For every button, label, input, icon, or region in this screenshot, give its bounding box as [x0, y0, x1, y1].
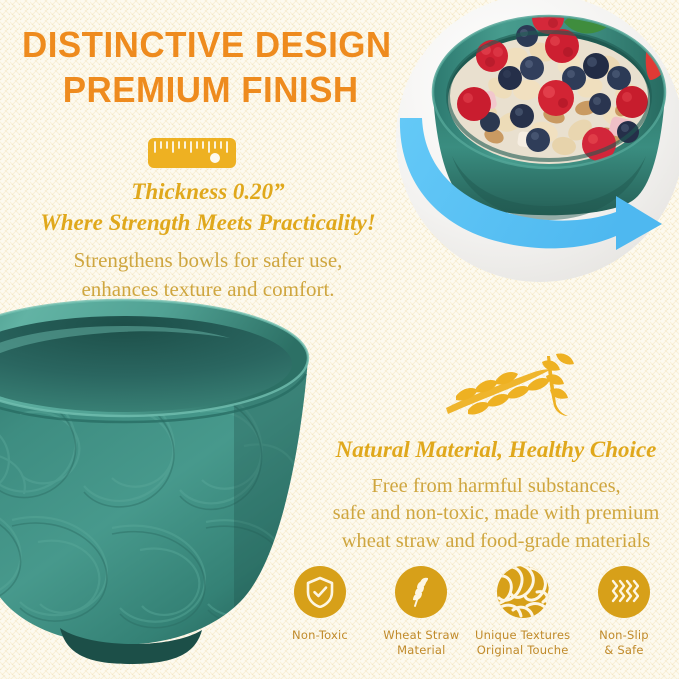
zigzag-lines-icon: [609, 578, 639, 606]
thickness-headline-2: Where Strength Meets Practicality!: [8, 207, 408, 238]
feature-label: Unique Textures Original Touche: [475, 628, 570, 659]
thickness-headline-1: Thickness 0.20”: [8, 176, 408, 207]
shield-check-icon: [305, 576, 335, 608]
swirl-texture-icon: [497, 566, 549, 618]
feature-label: Non-Toxic: [292, 628, 348, 643]
wheat-stalk-icon: [406, 576, 436, 608]
headline-line-2: PREMIUM FINISH: [22, 67, 429, 112]
curved-arrow-icon: [394, 112, 679, 272]
thickness-body-line-2: enhances texture and comfort.: [8, 275, 408, 305]
feature-icon-circle: [395, 566, 447, 618]
natural-material-body-line-1: Free from harmful substances,: [318, 473, 674, 501]
product-infographic: DISTINCTIVE DESIGN PREMIUM FINISH Thickn…: [0, 0, 679, 679]
wheat-stalks-icon: [444, 352, 580, 426]
thickness-body-line-1: Strengthens bowls for safer use,: [8, 246, 408, 276]
natural-material-body-line-2: safe and non-toxic, made with premium: [318, 500, 674, 528]
thickness-section: Thickness 0.20” Where Strength Meets Pra…: [8, 176, 408, 305]
natural-material-body-line-3: wheat straw and food-grade materials: [318, 528, 674, 556]
feature-icon-circle: [598, 566, 650, 618]
feature-icon-circle: [294, 566, 346, 618]
headline-line-1: DISTINCTIVE DESIGN: [22, 22, 429, 67]
feature-badge-row: Non-Toxic Wheat Straw Material: [272, 566, 672, 659]
natural-material-heading: Natural Material, Healthy Choice: [318, 436, 674, 464]
natural-material-section: Natural Material, Healthy Choice Free fr…: [318, 436, 674, 556]
feature-non-slip-safe: Non-Slip & Safe: [576, 566, 672, 659]
ruler-icon: [148, 138, 236, 168]
feature-non-toxic: Non-Toxic: [272, 566, 368, 659]
feature-unique-textures: Unique Textures Original Touche: [475, 566, 571, 659]
page-title: DISTINCTIVE DESIGN PREMIUM FINISH: [22, 22, 442, 113]
feature-label: Non-Slip & Safe: [599, 628, 649, 659]
feature-wheat-straw-material: Wheat Straw Material: [373, 566, 469, 659]
feature-label: Wheat Straw Material: [383, 628, 459, 659]
feature-icon-circle: [497, 566, 549, 618]
